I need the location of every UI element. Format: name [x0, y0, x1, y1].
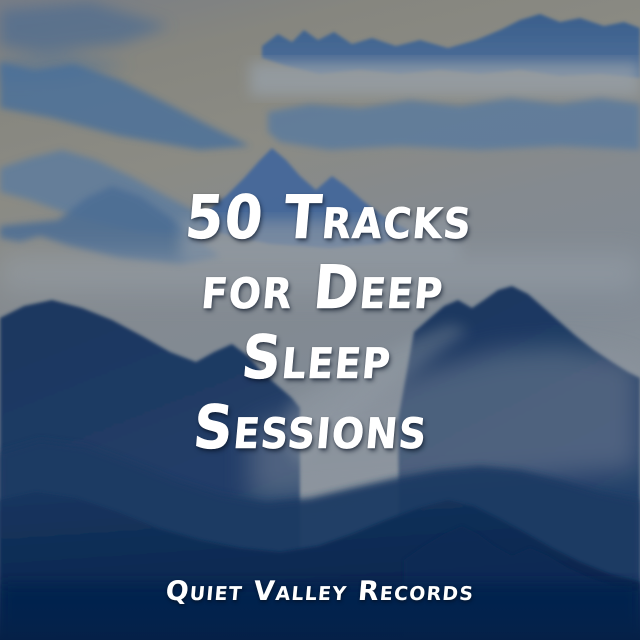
album-title-line-2: for Deep: [0, 253, 640, 323]
album-title-line-4: Sessions: [0, 393, 634, 463]
album-title-line-1: 50 Tracks: [6, 183, 640, 253]
cover-text-layer: 50 Tracks for Deep Sleep Sessions Quiet …: [0, 0, 640, 640]
album-cover: 50 Tracks for Deep Sleep Sessions Quiet …: [0, 0, 640, 640]
album-title: 50 Tracks for Deep Sleep Sessions: [0, 183, 640, 463]
album-title-line-3: Sleep: [0, 323, 640, 393]
record-label-name: Quiet Valley Records: [0, 576, 640, 608]
